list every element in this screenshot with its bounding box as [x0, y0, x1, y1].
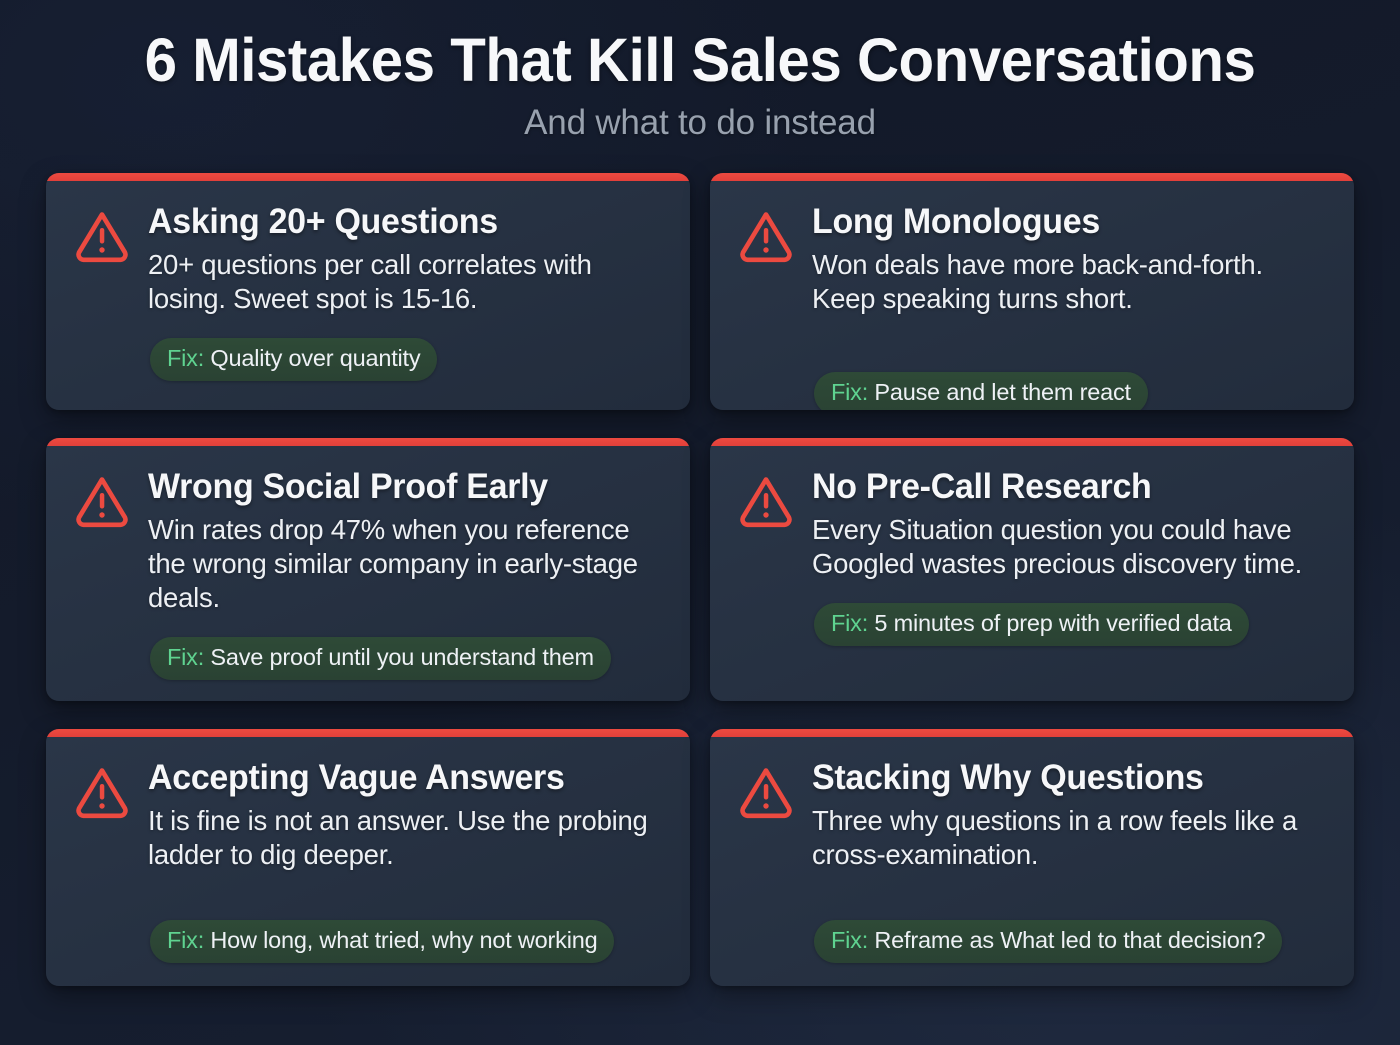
fix-row: Fix: Save proof until you understand the…: [148, 637, 660, 680]
page-title: 6 Mistakes That Kill Sales Conversations: [75, 28, 1324, 93]
mistake-card: Wrong Social Proof Early Win rates drop …: [46, 438, 690, 701]
card-description: Won deals have more back-and-forth. Keep…: [812, 248, 1324, 316]
fix-row: Fix: 5 minutes of prep with verified dat…: [812, 603, 1324, 646]
fix-badge: Fix: Quality over quantity: [150, 338, 437, 381]
card-title: Asking 20+ Questions: [148, 203, 645, 240]
fix-text: Reframe as What led to that decision?: [874, 927, 1265, 953]
header: 6 Mistakes That Kill Sales Conversations…: [46, 0, 1354, 142]
fix-label: Fix:: [167, 345, 204, 371]
card-description: Three why questions in a row feels like …: [812, 804, 1324, 872]
mistake-card: No Pre-Call Research Every Situation que…: [710, 438, 1354, 701]
mistake-card-grid: Asking 20+ Questions 20+ questions per c…: [46, 173, 1354, 986]
card-accent-bar: [46, 173, 690, 181]
fix-badge: Fix: 5 minutes of prep with verified dat…: [814, 603, 1249, 646]
warning-triangle-icon: [74, 207, 130, 263]
card-accent-bar: [46, 438, 690, 446]
fix-label: Fix:: [831, 379, 868, 405]
card-accent-bar: [710, 729, 1354, 737]
card-accent-bar: [46, 729, 690, 737]
fix-row: Fix: Reframe as What led to that decisio…: [812, 920, 1324, 963]
mistake-card: Long Monologues Won deals have more back…: [710, 173, 1354, 410]
fix-badge: Fix: How long, what tried, why not worki…: [150, 920, 614, 963]
fix-text: Quality over quantity: [210, 345, 420, 371]
card-accent-bar: [710, 173, 1354, 181]
mistake-card: Accepting Vague Answers It is fine is no…: [46, 729, 690, 986]
card-description: Every Situation question you could have …: [812, 513, 1324, 581]
infographic-page: 6 Mistakes That Kill Sales Conversations…: [0, 0, 1400, 1045]
fix-text: Pause and let them react: [874, 379, 1130, 405]
fix-row: Fix: Quality over quantity: [148, 338, 660, 381]
card-accent-bar: [710, 438, 1354, 446]
card-title: Stacking Why Questions: [812, 759, 1309, 796]
fix-label: Fix:: [167, 927, 204, 953]
card-description: 20+ questions per call correlates with l…: [148, 248, 660, 316]
fix-badge: Fix: Pause and let them react: [814, 372, 1148, 410]
card-title: Wrong Social Proof Early: [148, 468, 645, 505]
warning-triangle-icon: [738, 207, 794, 263]
fix-text: 5 minutes of prep with verified data: [874, 610, 1231, 636]
warning-triangle-icon: [738, 763, 794, 819]
fix-badge: Fix: Save proof until you understand the…: [150, 637, 611, 680]
fix-row: Fix: How long, what tried, why not worki…: [148, 920, 660, 963]
fix-label: Fix:: [167, 644, 204, 670]
fix-badge: Fix: Reframe as What led to that decisio…: [814, 920, 1282, 963]
mistake-card: Stacking Why Questions Three why questio…: [710, 729, 1354, 986]
warning-triangle-icon: [74, 472, 130, 528]
card-description: Win rates drop 47% when you reference th…: [148, 513, 660, 615]
card-title: Long Monologues: [812, 203, 1309, 240]
fix-text: Save proof until you understand them: [210, 644, 593, 670]
warning-triangle-icon: [74, 763, 130, 819]
fix-label: Fix:: [831, 610, 868, 636]
card-title: No Pre-Call Research: [812, 468, 1309, 505]
warning-triangle-icon: [738, 472, 794, 528]
fix-row: Fix: Pause and let them react: [812, 372, 1324, 410]
card-description: It is fine is not an answer. Use the pro…: [148, 804, 660, 872]
card-title: Accepting Vague Answers: [148, 759, 645, 796]
fix-label: Fix:: [831, 927, 868, 953]
fix-text: How long, what tried, why not working: [210, 927, 597, 953]
page-subtitle: And what to do instead: [46, 104, 1354, 143]
mistake-card: Asking 20+ Questions 20+ questions per c…: [46, 173, 690, 410]
